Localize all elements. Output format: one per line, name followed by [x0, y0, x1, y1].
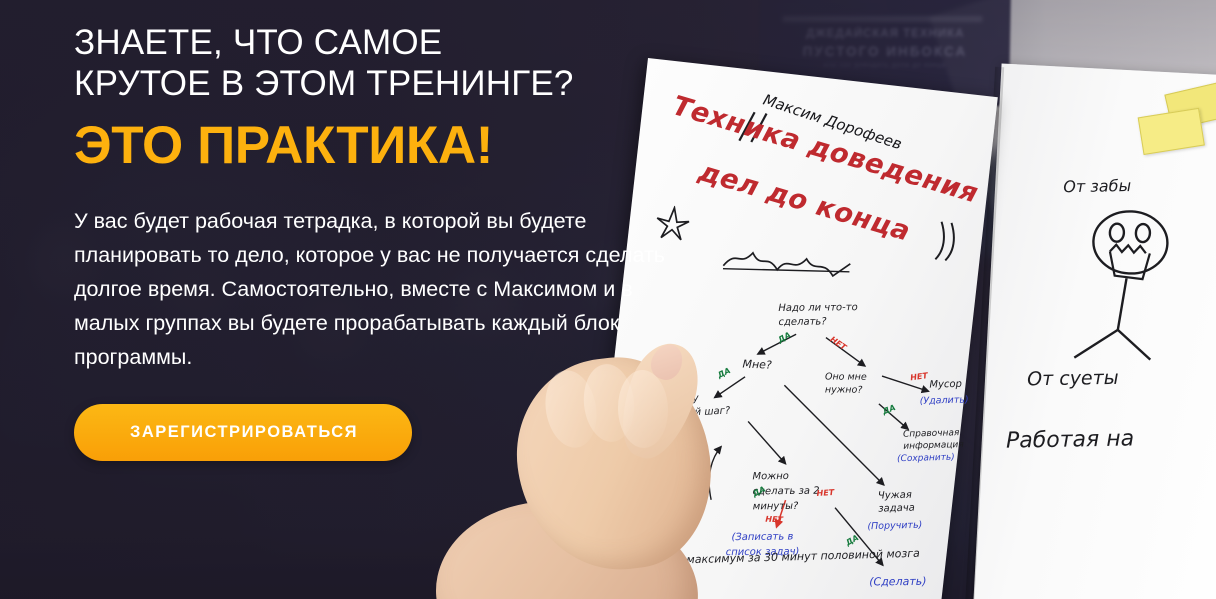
- right-page-line3: Работая на: [1006, 426, 1135, 453]
- right-page-line2: От суеты: [1027, 367, 1119, 391]
- notebook-page-right: От забы От суеты Работая на: [968, 63, 1216, 599]
- flow-node-needed: Оно мне нужно?: [825, 370, 877, 396]
- squiggle-underline: [721, 244, 855, 287]
- hero-copy: ЗНАЕТЕ, ЧТО САМОЕ КРУТОЕ В ЭТОМ ТРЕНИНГЕ…: [74, 22, 714, 461]
- flow-node-trash: Мусор: [929, 379, 962, 391]
- edge-label-yes: ДА: [776, 330, 792, 344]
- flow-action-save: (Сохранить): [897, 453, 955, 465]
- flow-node-reference-info: Справочная информация: [903, 427, 960, 453]
- flow-action-do-it: (Сделать): [869, 575, 926, 589]
- stick-figure-drawing: [1058, 205, 1216, 373]
- heading-line-2: КРУТОЕ В ЭТОМ ТРЕНИНГЕ?: [74, 63, 714, 104]
- sticky-note: [1138, 108, 1205, 155]
- heading-line-1: ЗНАЕТЕ, ЧТО САМОЕ: [74, 22, 714, 63]
- flow-node-root: Надо ли что-то сделать?: [778, 301, 874, 330]
- flow-action-delete: (Удалить): [920, 394, 969, 406]
- edge-label-yes: ДА: [844, 533, 860, 547]
- register-button[interactable]: ЗАРЕГИСТРИРОВАТЬСЯ: [74, 404, 412, 461]
- edge-label-yes: ДА: [881, 403, 897, 416]
- heading-accent: ЭТО ПРАКТИКА!: [74, 116, 714, 176]
- edge-label-no: НЕТ: [828, 335, 848, 352]
- flow-action-delegate: (Поручить): [867, 520, 922, 533]
- quote-mark-close-icon: [929, 217, 962, 266]
- hero-paragraph: У вас будет рабочая тетрадка, в которой …: [74, 204, 699, 374]
- hero-section: ДЖЕДАЙСКАЯ ТЕХНИКА ПУСТОГО ИНБОКСА или к…: [0, 0, 1216, 599]
- edge-label-no: НЕТ: [910, 371, 929, 382]
- flow-node-someone-elses-task: Чужая задача: [878, 488, 925, 515]
- edge-label-no: НЕТ: [816, 488, 834, 498]
- right-page-line1: От забы: [1063, 176, 1131, 196]
